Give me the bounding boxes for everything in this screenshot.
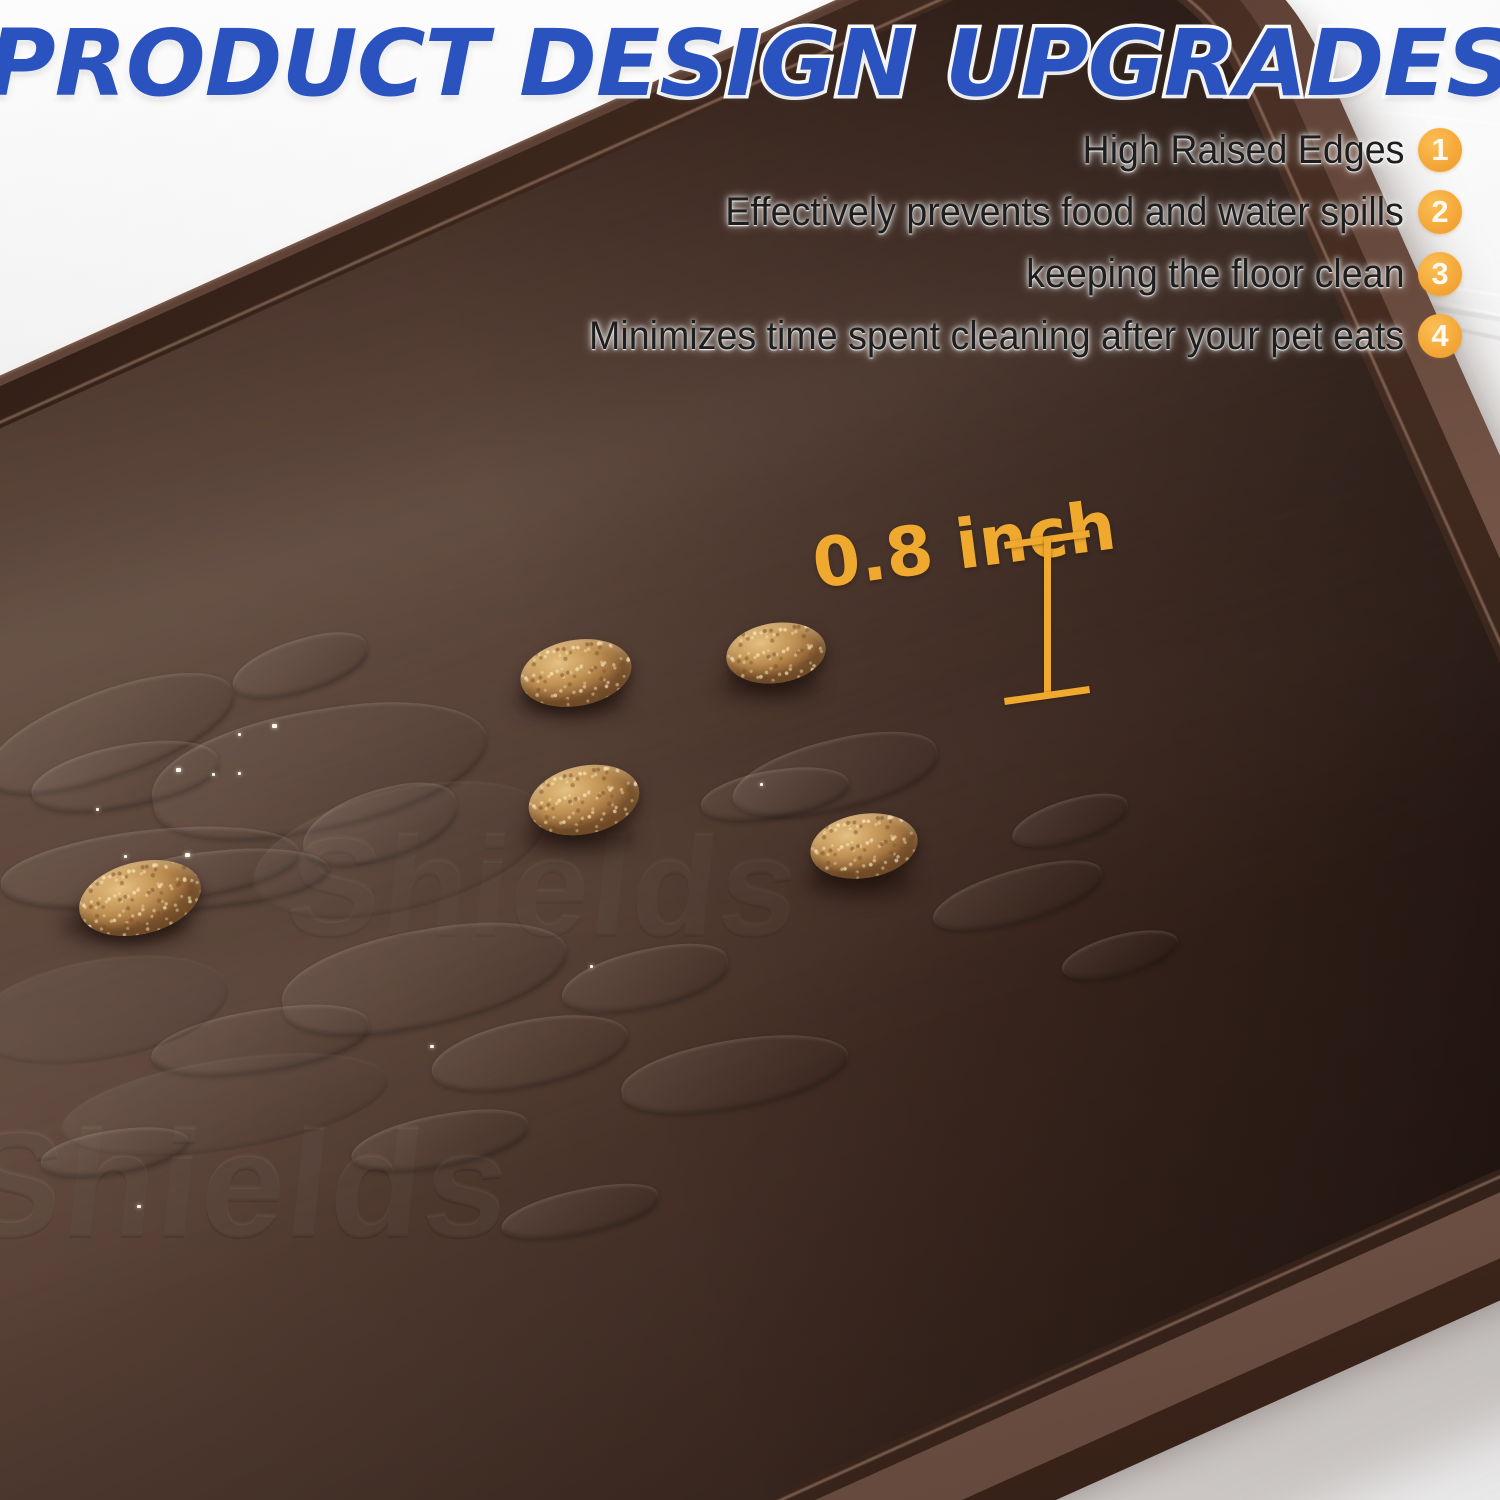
feature-label: Effectively prevents food and water spil… xyxy=(725,192,1404,232)
feature-item-3: keeping the floor clean 3 xyxy=(542,246,1462,302)
feature-label: Minimizes time spent cleaning after your… xyxy=(589,316,1404,356)
feature-badge-4: 4 xyxy=(1418,314,1462,358)
feature-badge-1: 1 xyxy=(1418,128,1462,172)
feature-label: High Raised Edges xyxy=(1082,130,1404,170)
feature-badge-3: 3 xyxy=(1418,252,1462,296)
feature-item-2: Effectively prevents food and water spil… xyxy=(542,184,1462,240)
product-marketing-image: Shields Shields xyxy=(0,0,1500,1500)
feature-list: High Raised Edges 1 Effectively prevents… xyxy=(542,122,1462,364)
feature-item-1: High Raised Edges 1 xyxy=(542,122,1462,178)
page-title: PRODUCT DESIGN UPGRADES xyxy=(0,16,1500,113)
feature-label: keeping the floor clean xyxy=(1026,254,1404,294)
feature-badge-2: 2 xyxy=(1418,190,1462,234)
dimension-line xyxy=(1044,538,1051,696)
feature-item-4: Minimizes time spent cleaning after your… xyxy=(542,308,1462,364)
